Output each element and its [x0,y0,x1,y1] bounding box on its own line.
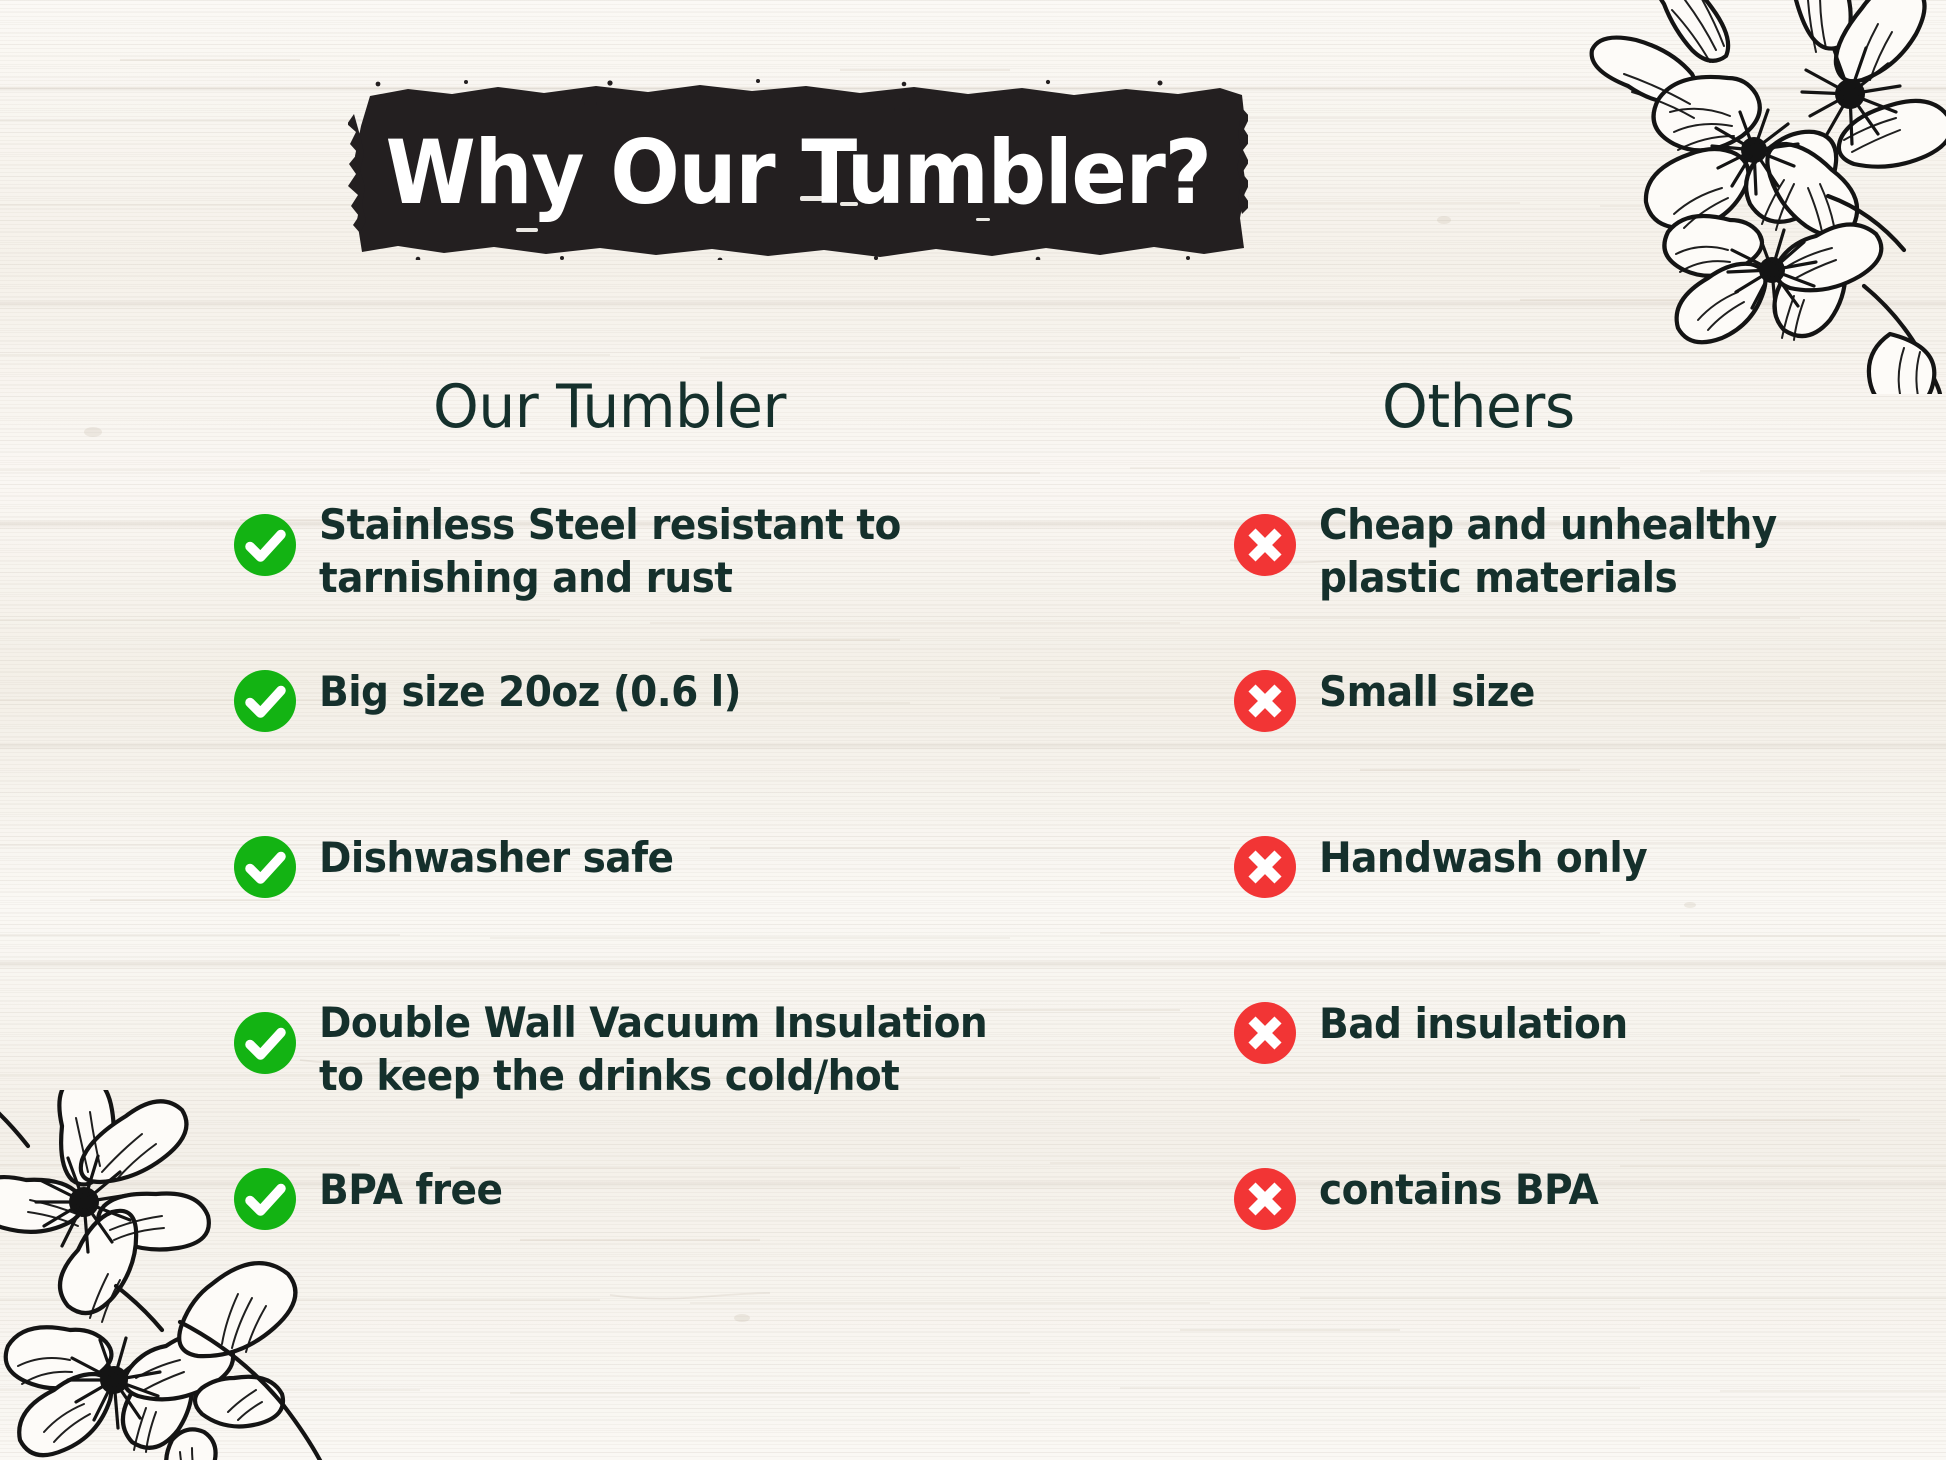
others-feature-list: Cheap and unhealthy plastic materials Sm… [1234,498,1874,1328]
list-item-label: Big size 20oz (0.6 l) [319,664,741,718]
list-item: Cheap and unhealthy plastic materials [1234,498,1874,664]
poster-canvas: Why Our Tumbler? Our Tumbler Others Stai… [0,0,1946,1460]
check-circle-icon [234,1168,296,1230]
list-item-label: contains BPA [1319,1162,1598,1216]
check-circle-icon [234,670,296,732]
list-item-label: Cheap and unhealthy plastic materials [1319,498,1835,604]
list-item: Stainless Steel resistant to tarnishing … [234,498,1094,664]
check-circle-icon [234,1012,296,1074]
list-item: Dishwasher safe [234,830,1094,996]
list-item-label: Double Wall Vacuum Insulation to keep th… [319,996,1040,1102]
list-item: Double Wall Vacuum Insulation to keep th… [234,996,1094,1162]
ours-feature-list: Stainless Steel resistant to tarnishing … [234,498,1094,1328]
cross-circle-icon [1234,1168,1296,1230]
list-item: Small size [1234,664,1874,830]
cross-circle-icon [1234,670,1296,732]
check-circle-icon [234,836,296,898]
list-item-label: Stainless Steel resistant to tarnishing … [319,498,1040,604]
page-title: Why Our Tumbler? [380,78,1217,260]
check-circle-icon [234,514,296,576]
list-item: Bad insulation [1234,996,1874,1162]
list-item-label: Handwash only [1319,830,1647,884]
list-item: BPA free [234,1162,1094,1328]
list-item-label: Small size [1319,664,1535,718]
list-item-label: Dishwasher safe [319,830,673,884]
list-item-label: Bad insulation [1319,996,1628,1050]
list-item: contains BPA [1234,1162,1874,1328]
cross-circle-icon [1234,514,1296,576]
column-header-others: Others [1382,372,1575,442]
title-banner: Why Our Tumbler? [348,78,1248,260]
column-header-ours: Our Tumbler [433,372,786,442]
list-item: Handwash only [1234,830,1874,996]
list-item-label: BPA free [319,1162,502,1216]
cross-circle-icon [1234,836,1296,898]
list-item: Big size 20oz (0.6 l) [234,664,1094,830]
cross-circle-icon [1234,1002,1296,1064]
